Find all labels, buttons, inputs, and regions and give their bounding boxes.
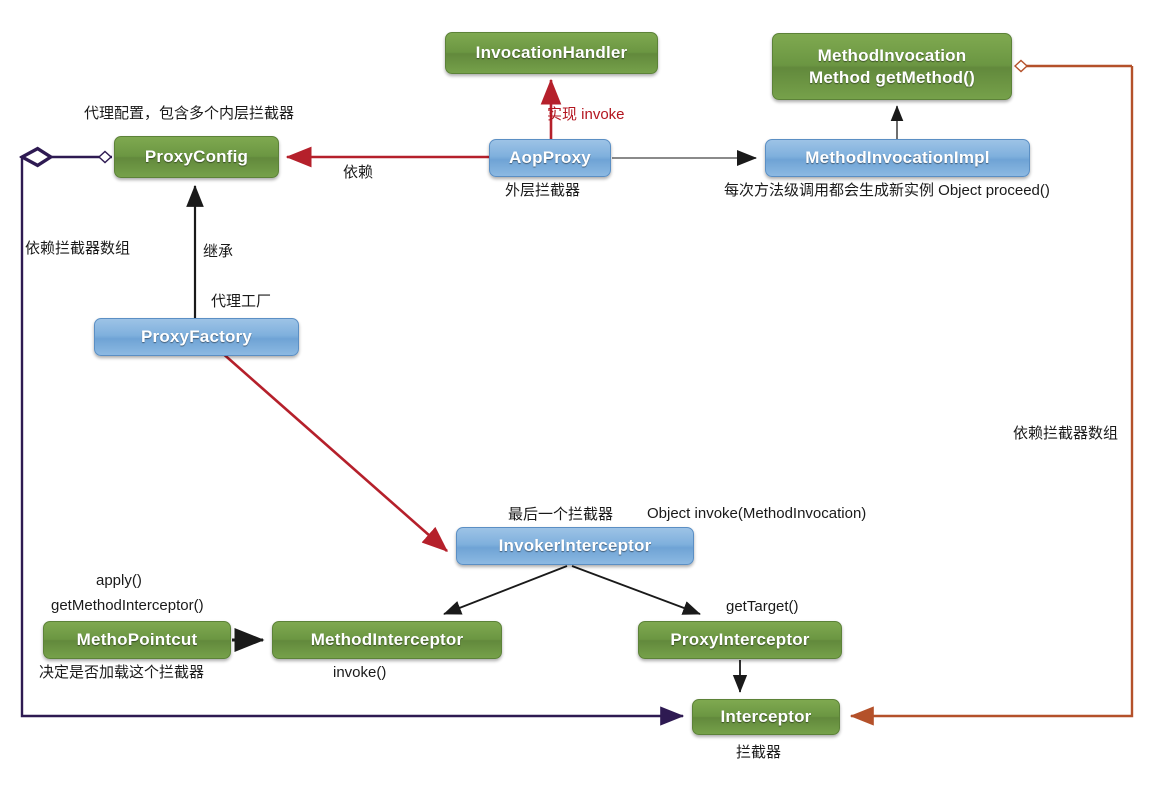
annotation-proxy-factory-desc: 代理工厂 [211, 292, 271, 312]
annotation-get-method-interceptor: getMethodInterceptor() [51, 596, 204, 616]
node-label: ProxyInterceptor [670, 629, 809, 650]
annotation-depends-interceptor-array-right: 依赖拦截器数组 [1013, 424, 1118, 444]
node-label: Interceptor [721, 706, 812, 727]
node-label: MethodInterceptor [311, 629, 464, 650]
node-metho-pointcut[interactable]: MethoPointcut [43, 621, 231, 659]
diagram-canvas: InvocationHandler MethodInvocation Metho… [0, 0, 1162, 807]
annotation-interceptor-cn: 拦截器 [736, 743, 781, 763]
annotation-last-interceptor: 最后一个拦截器 [508, 505, 613, 525]
annotation-inherit: 继承 [203, 242, 233, 262]
node-label: MethodInvocationImpl [805, 147, 989, 168]
node-label: MethoPointcut [77, 629, 198, 650]
node-label: InvokerInterceptor [499, 535, 652, 556]
annotation-depends-interceptor-array-left: 依赖拦截器数组 [25, 239, 130, 259]
node-proxy-factory[interactable]: ProxyFactory [94, 318, 299, 356]
edge-invoker-proxyinterceptor [572, 566, 700, 614]
annotation-implements-invoke: 实现 invoke [547, 105, 625, 125]
annotation-new-instance-per-call: 每次方法级调用都会生成新实例 Object proceed() [724, 181, 1050, 201]
annotation-proxy-config-desc: 代理配置，包含多个内层拦截器 [84, 104, 294, 124]
node-method-invocation-impl[interactable]: MethodInvocationImpl [765, 139, 1030, 177]
node-label: InvocationHandler [476, 42, 628, 63]
annotation-decide-load-interceptor: 决定是否加载这个拦截器 [39, 663, 204, 683]
node-proxy-config[interactable]: ProxyConfig [114, 136, 279, 178]
annotation-dependency: 依赖 [343, 163, 373, 183]
edge-invoker-methodinterceptor [444, 566, 567, 614]
node-invocation-handler[interactable]: InvocationHandler [445, 32, 658, 74]
node-method-interceptor[interactable]: MethodInterceptor [272, 621, 502, 659]
node-label: AopProxy [509, 147, 591, 168]
annotation-invoke: invoke() [333, 663, 386, 683]
node-interceptor[interactable]: Interceptor [692, 699, 840, 735]
node-method-invocation[interactable]: MethodInvocation Method getMethod() [772, 33, 1012, 100]
node-invoker-interceptor[interactable]: InvokerInterceptor [456, 527, 694, 565]
node-label: ProxyConfig [145, 146, 248, 167]
edge-proxyfactory-invoker [220, 351, 447, 551]
annotation-apply: apply() [96, 571, 142, 591]
annotation-invoke-signature: Object invoke(MethodInvocation) [647, 504, 866, 524]
node-proxy-interceptor[interactable]: ProxyInterceptor [638, 621, 842, 659]
node-label: ProxyFactory [141, 326, 252, 347]
node-aop-proxy[interactable]: AopProxy [489, 139, 611, 177]
annotation-get-target: getTarget() [726, 597, 799, 617]
annotation-outer-interceptor: 外层拦截器 [505, 181, 580, 201]
node-label: MethodInvocation Method getMethod() [809, 45, 975, 88]
